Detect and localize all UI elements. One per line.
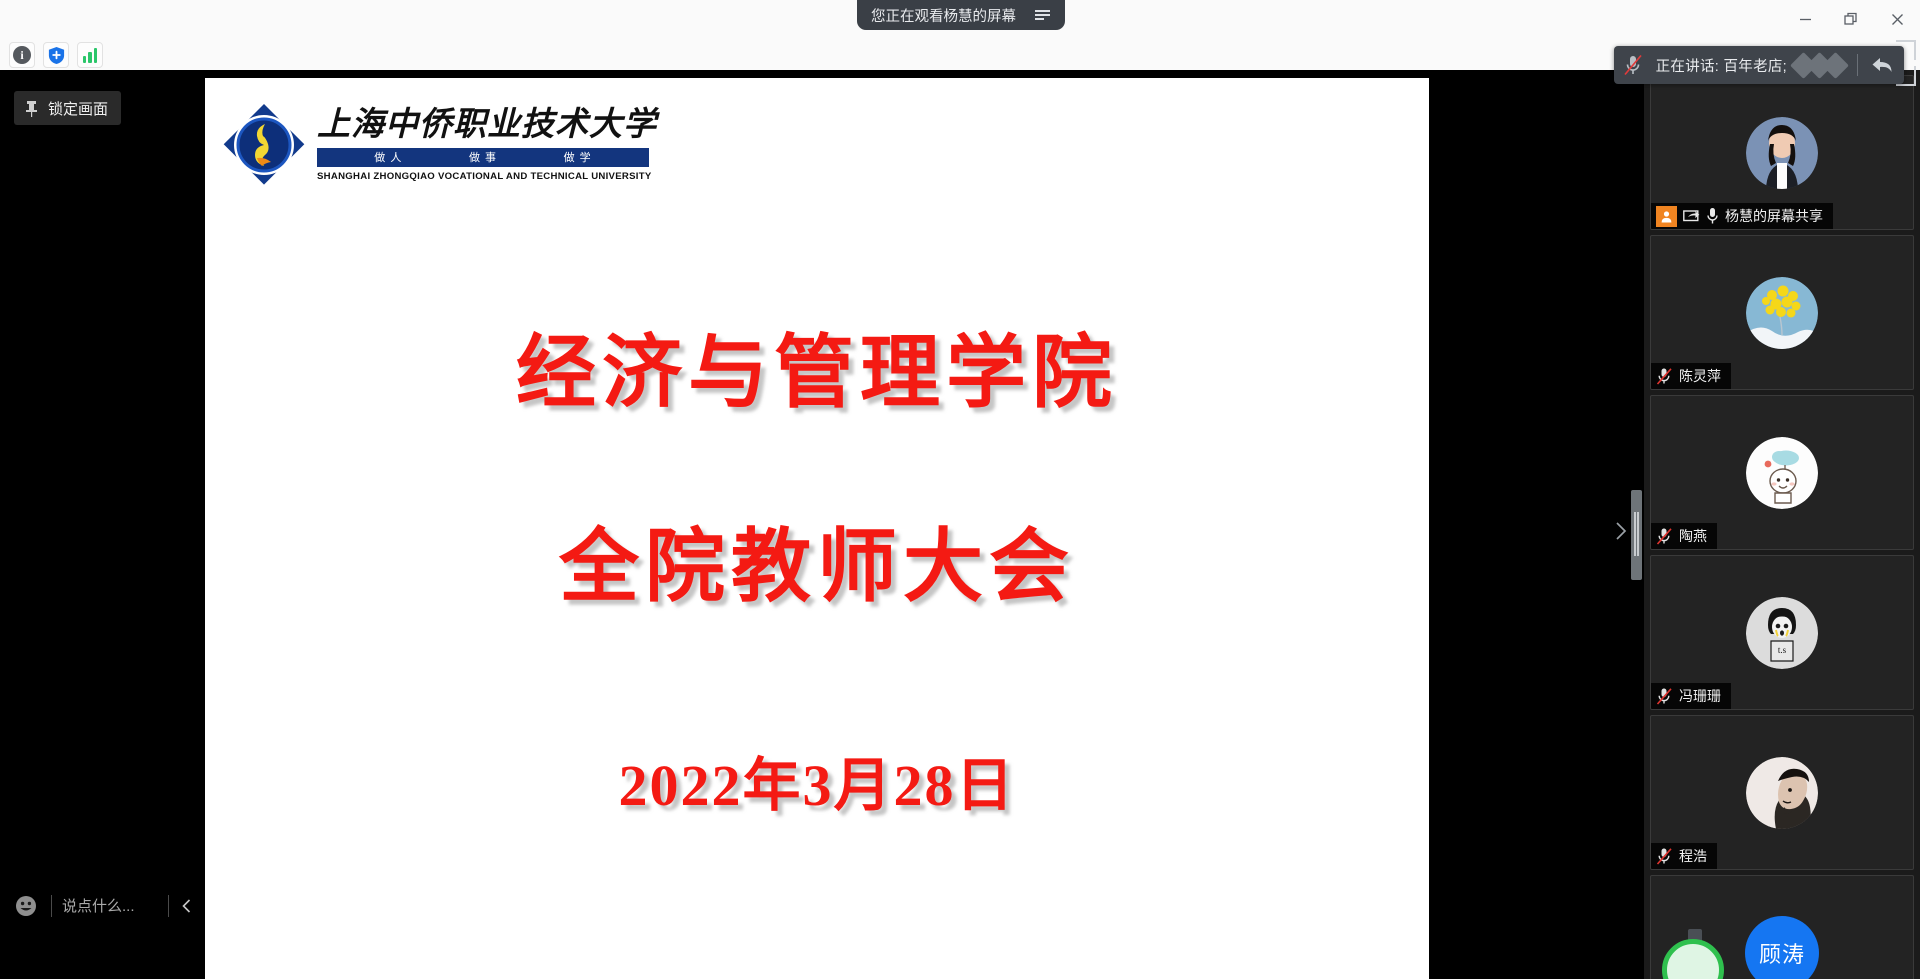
university-name-cn: 上海中侨职业技术大学	[317, 108, 649, 143]
svg-text:t.s: t.s	[1778, 645, 1787, 655]
viewing-banner-text: 您正在观看杨慧的屏幕	[871, 5, 1016, 26]
meeting-window: 您正在观看杨慧的屏幕 i 正在讲话: 百年老店;	[0, 0, 1920, 979]
minimize-button[interactable]	[1782, 0, 1828, 38]
restore-button[interactable]	[1828, 0, 1874, 38]
signal-bars-icon	[83, 48, 98, 63]
lock-screen-label: 锁定画面	[48, 98, 108, 119]
university-logo-text: 上海中侨职业技术大学 做 人 做 事 做 学 SHANGHAI ZHONGQIA…	[317, 108, 649, 182]
avatar	[1746, 437, 1818, 509]
participant-name: 陶燕	[1679, 526, 1707, 546]
avatar	[1746, 117, 1818, 189]
university-emblem-icon	[221, 102, 307, 188]
host-badge-icon	[1656, 206, 1677, 227]
chevron-right-icon	[1613, 520, 1629, 542]
lock-screen-button[interactable]: 锁定画面	[14, 91, 121, 125]
active-speaker-bar[interactable]: 正在讲话: 百年老店;	[1614, 46, 1904, 84]
chat-input-bar	[14, 888, 197, 924]
hamburger-menu-icon[interactable]	[1028, 5, 1057, 25]
close-button[interactable]	[1874, 0, 1920, 38]
left-rail: 锁定画面	[0, 70, 205, 979]
security-button[interactable]	[43, 42, 69, 68]
motto-1: 做 人	[374, 149, 402, 165]
university-logo: 上海中侨职业技术大学 做 人 做 事 做 学 SHANGHAI ZHONGQIA…	[221, 102, 649, 188]
participant-tile[interactable]: 杨慧的屏幕共享	[1650, 75, 1914, 230]
active-speaker-text: 正在讲话: 百年老店;	[1656, 55, 1787, 76]
reply-arrow-icon	[1870, 55, 1894, 75]
mic-muted-icon	[1656, 367, 1673, 386]
window-controls	[1782, 0, 1920, 38]
participant-tile[interactable]: t.s 冯珊珊	[1650, 555, 1914, 710]
mic-icon	[1706, 207, 1719, 225]
university-motto-bar: 做 人 做 事 做 学	[317, 148, 649, 167]
chat-input[interactable]	[62, 898, 158, 915]
slide-date: 2022年3月28日	[618, 738, 1015, 822]
chat-divider-right	[168, 895, 169, 917]
speaker-name-masked	[1797, 56, 1845, 75]
viewing-banner: 您正在观看杨慧的屏幕	[857, 0, 1065, 30]
participant-name: 冯珊珊	[1679, 686, 1721, 706]
participant-initials: 顾涛	[1759, 937, 1805, 969]
pin-icon	[24, 100, 39, 117]
participant-nametag: 陈灵萍	[1651, 363, 1731, 389]
chat-divider-left	[51, 895, 52, 917]
participant-nametag: 程浩	[1651, 843, 1717, 869]
participant-nametag: 冯珊珊	[1651, 683, 1731, 709]
mic-muted-icon	[1656, 847, 1673, 866]
participant-tile[interactable]: 陶燕	[1650, 395, 1914, 550]
panel-scrollbar-grip[interactable]	[1631, 490, 1642, 580]
emoji-smile-icon	[14, 894, 38, 918]
avatar: t.s	[1746, 597, 1818, 669]
toolbar-icon-group: i	[9, 42, 103, 68]
motto-3: 做 学	[564, 149, 592, 165]
shared-screen[interactable]: 上海中侨职业技术大学 做 人 做 事 做 学 SHANGHAI ZHONGQIA…	[205, 78, 1429, 979]
shield-plus-icon	[47, 46, 66, 65]
motto-2: 做 事	[469, 149, 497, 165]
slide-title-line-2: 全院教师大会	[559, 502, 1075, 618]
avatar	[1746, 277, 1818, 349]
university-name-en: SHANGHAI ZHONGQIAO VOCATIONAL AND TECHNI…	[317, 171, 649, 182]
participant-tile[interactable]: 陈灵萍	[1650, 235, 1914, 390]
participant-panel[interactable]: 杨慧的屏幕共享	[1644, 70, 1920, 979]
participant-tile[interactable]: 程浩	[1650, 715, 1914, 870]
info-button[interactable]: i	[9, 42, 35, 68]
screen-share-icon	[1683, 208, 1700, 224]
mic-muted-icon	[1656, 527, 1673, 546]
speaking-bar-divider	[1857, 54, 1858, 76]
participant-nametag: 陶燕	[1651, 523, 1717, 549]
chevron-left-icon	[177, 896, 197, 916]
avatar	[1746, 757, 1818, 829]
network-stats-button[interactable]	[77, 42, 103, 68]
participant-name: 杨慧的屏幕共享	[1725, 206, 1823, 226]
info-icon: i	[13, 46, 31, 64]
mic-muted-icon	[1656, 687, 1673, 706]
slide-title-line-1: 经济与管理学院	[516, 308, 1118, 424]
participant-name: 陈灵萍	[1679, 366, 1721, 386]
participant-name: 程浩	[1679, 846, 1707, 866]
participant-nametag: 杨慧的屏幕共享	[1651, 203, 1833, 229]
avatar: 顾涛	[1745, 916, 1819, 979]
slide-content: 经济与管理学院 全院教师大会 2022年3月28日	[205, 308, 1429, 822]
mic-muted-icon	[1622, 53, 1644, 77]
